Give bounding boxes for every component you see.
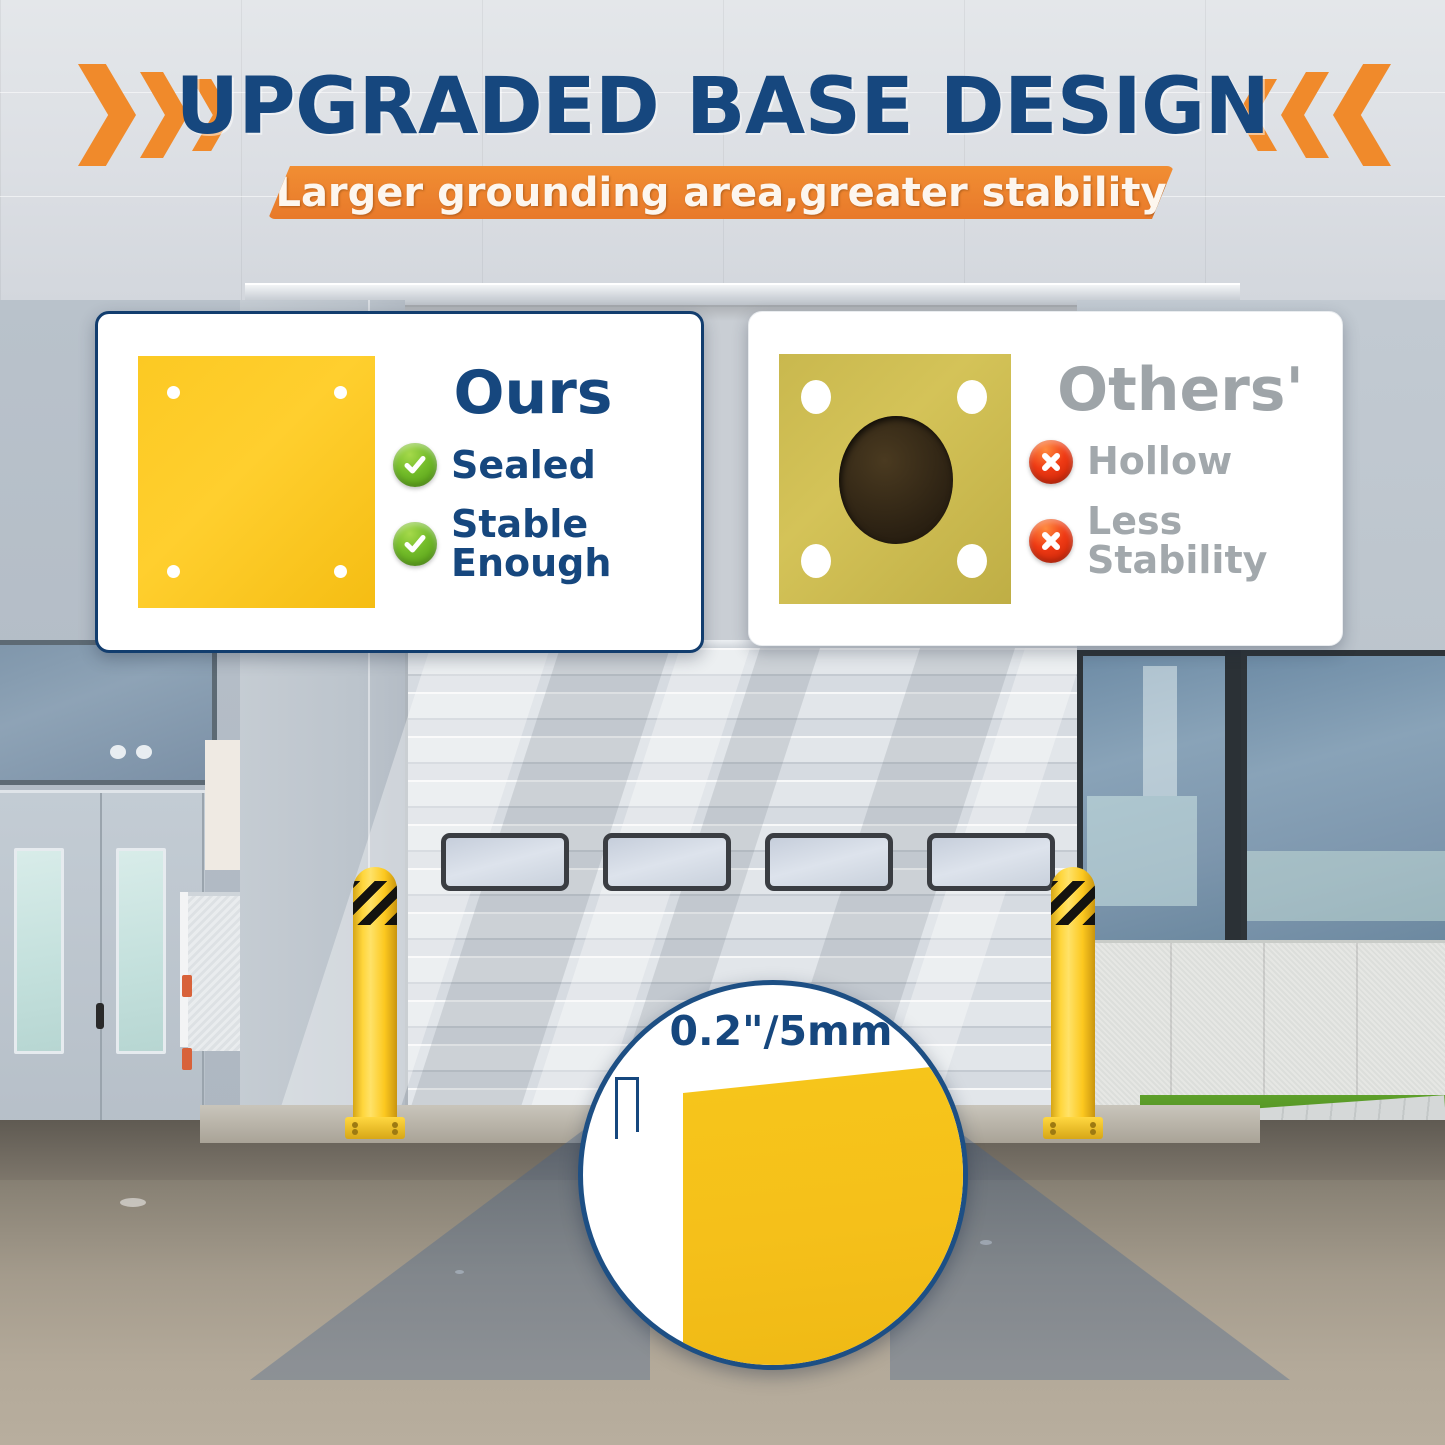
solid-base-plate	[138, 356, 375, 608]
feature-label-line1: Stable	[451, 505, 611, 544]
door-window	[603, 833, 731, 891]
thickness-caliper-icon	[615, 1077, 641, 1139]
comparison-card-others[interactable]: Others' Hollow Less Stability	[748, 311, 1343, 646]
ceiling-lamp	[110, 745, 126, 759]
hollow-base-plate	[779, 354, 1011, 604]
header-banner: UPGRADED BASE DESIGN Larger grounding ar…	[0, 0, 1445, 230]
wall-marker	[182, 975, 192, 997]
feature-row-sealed: Sealed	[393, 443, 701, 487]
window-bay-left	[1077, 650, 1237, 952]
door-glass-panel	[116, 848, 166, 1054]
door-window	[765, 833, 893, 891]
door-window	[927, 833, 1055, 891]
ceiling-lamp	[136, 745, 152, 759]
check-circle-icon	[393, 522, 437, 566]
page-title: UPGRADED BASE DESIGN	[0, 62, 1445, 152]
ours-plate-image	[98, 356, 375, 608]
subtitle-banner: Larger grounding area,greater stability	[268, 166, 1174, 219]
feature-row-less-stability: Less Stability	[1029, 502, 1342, 580]
mounting-hole	[957, 380, 987, 414]
others-plate-image	[749, 354, 1011, 604]
x-circle-icon	[1029, 519, 1073, 563]
feature-label-line2: Enough	[451, 544, 611, 583]
feature-label-line2: Stability	[1087, 541, 1267, 580]
card-title-others: Others'	[1029, 360, 1342, 420]
hollow-center-hole	[839, 416, 953, 544]
door-glass-panel	[14, 848, 64, 1054]
mounting-hole	[334, 565, 347, 578]
others-text-column: Others' Hollow Less Stability	[1011, 360, 1342, 598]
feature-label-hollow: Hollow	[1087, 442, 1232, 481]
product-infographic: UPGRADED BASE DESIGN Larger grounding ar…	[0, 0, 1445, 1445]
thickness-label: 0.2"/5mm	[631, 1007, 931, 1055]
plate-edge-closeup	[683, 1058, 968, 1370]
mounting-hole	[167, 386, 180, 399]
feature-label-less-stability: Less Stability	[1087, 502, 1267, 580]
magnifier-detail-circle: 0.2"/5mm	[578, 980, 968, 1370]
mounting-hole	[334, 386, 347, 399]
feature-row-stable-enough: Stable Enough	[393, 505, 701, 583]
check-circle-icon	[393, 443, 437, 487]
entry-double-door	[0, 790, 205, 1138]
upper-window	[0, 640, 217, 785]
subtitle-text: Larger grounding area,greater stability	[275, 170, 1166, 216]
concrete-plinth	[1077, 940, 1445, 1118]
feature-label-stable-enough: Stable Enough	[451, 505, 611, 583]
comparison-card-ours[interactable]: Ours Sealed Stable Enough	[95, 311, 704, 653]
feature-label-line1: Less	[1087, 502, 1267, 541]
ours-text-column: Ours Sealed Stable Enough	[375, 363, 701, 601]
window-bay-right	[1241, 650, 1445, 952]
x-circle-icon	[1029, 440, 1073, 484]
feature-row-hollow: Hollow	[1029, 440, 1342, 484]
wall-marker	[182, 1048, 192, 1070]
door-leaf-left	[0, 793, 102, 1138]
mounting-hole	[801, 380, 831, 414]
mounting-hole	[957, 544, 987, 578]
door-handle	[96, 1003, 104, 1029]
window-mullion	[1225, 650, 1241, 940]
mounting-hole	[167, 565, 180, 578]
mounting-hole	[801, 544, 831, 578]
door-window	[441, 833, 569, 891]
feature-label-sealed: Sealed	[451, 446, 596, 485]
card-title-ours: Ours	[393, 363, 701, 423]
